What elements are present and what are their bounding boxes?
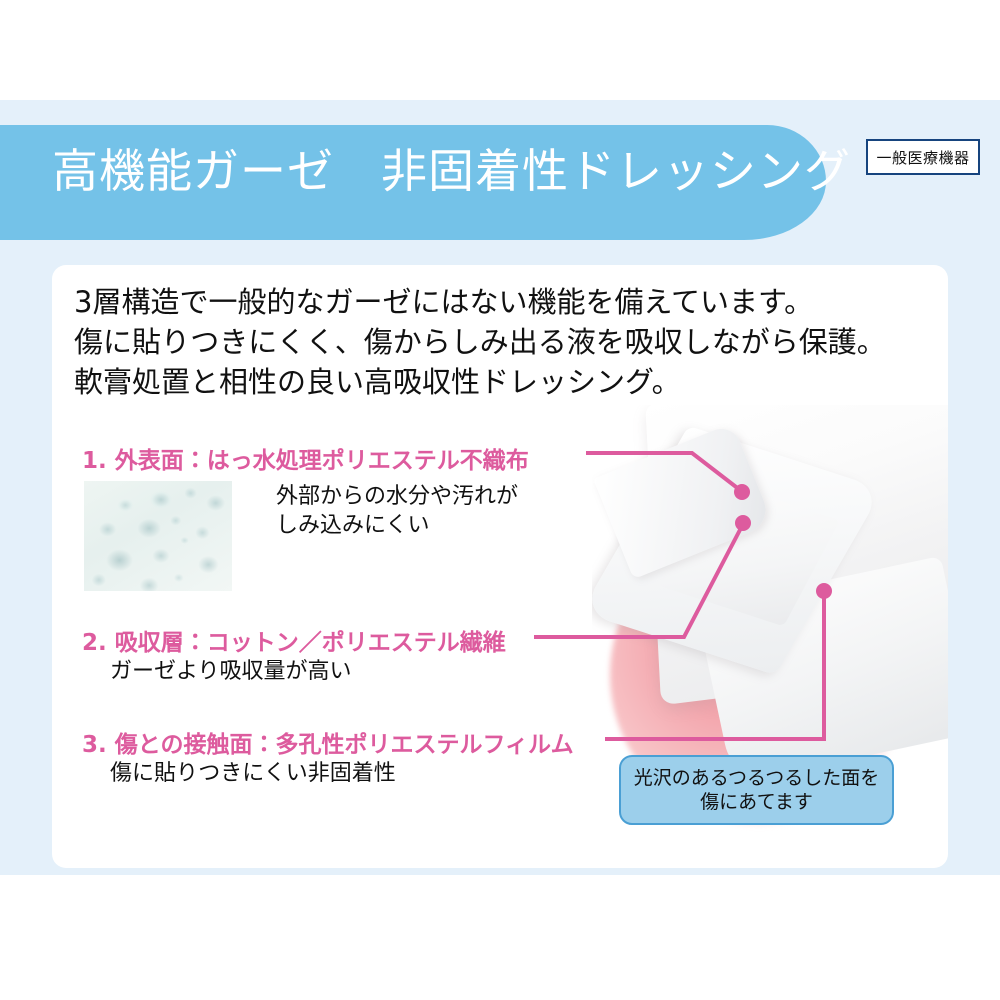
medical-device-badge: 一般医療機器 — [866, 139, 980, 175]
intro-paragraph: 3層構造で一般的なガーゼにはない機能を備えています。 傷に貼りつきにくく、傷から… — [74, 282, 934, 402]
infographic-page: 高機能ガーゼ 非固着性ドレッシング 一般医療機器 3層構造で一般的なガーゼにはな… — [0, 0, 1000, 1000]
page-title: 高機能ガーゼ 非固着性ドレッシング — [52, 148, 851, 194]
usage-callout: 光沢のあるつるつるした面を 傷にあてます — [619, 755, 894, 825]
layer-2-subtext: ガーゼより吸収量が高い — [110, 657, 352, 686]
content-card: 3層構造で一般的なガーゼにはない機能を備えています。 傷に貼りつきにくく、傷から… — [52, 265, 948, 868]
layer-1-heading: 1. 外表面：はっ水処理ポリエステル不織布 — [82, 441, 529, 475]
water-droplet-photo — [84, 481, 232, 591]
layer-1-subtext: 外部からの水分や汚れが しみ込みにくい — [276, 482, 518, 540]
layer-3-subtext: 傷に貼りつきにくい非固着性 — [110, 759, 396, 788]
layer-3-heading: 3. 傷との接触面：多孔性ポリエステルフィルム — [82, 725, 574, 759]
layer-2-heading: 2. 吸収層：コットン／ポリエステル繊維 — [82, 623, 506, 657]
